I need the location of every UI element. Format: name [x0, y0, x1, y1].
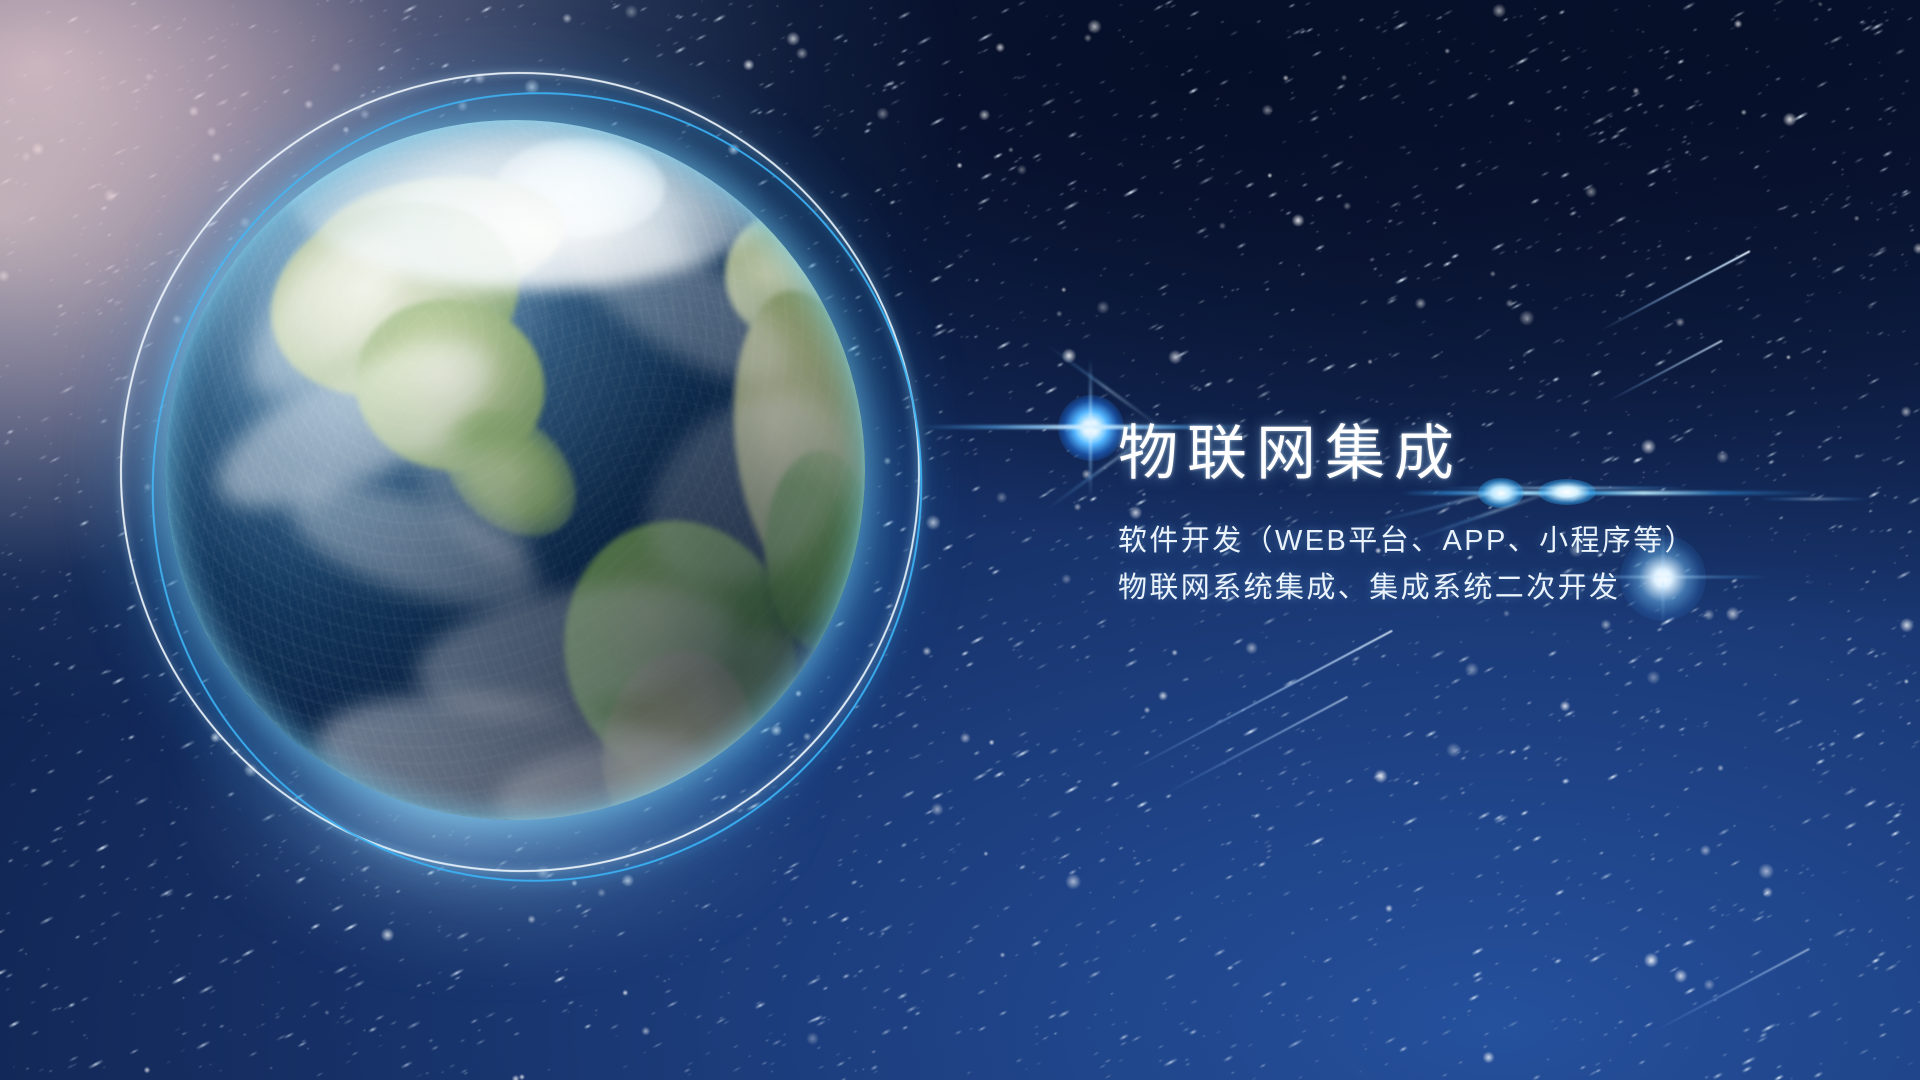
hero-subtitle-line-2: 物联网系统集成、集成系统二次开发 — [1118, 565, 1858, 612]
earth-limb-glow — [165, 120, 865, 820]
hero-text-block: 物联网集成 软件开发（WEB平台、APP、小程序等） 物联网系统集成、集成系统二… — [1118, 424, 1858, 612]
hero-subtitle: 软件开发（WEB平台、APP、小程序等） 物联网系统集成、集成系统二次开发 — [1118, 518, 1858, 612]
space-hero-banner: 物联网集成 软件开发（WEB平台、APP、小程序等） 物联网系统集成、集成系统二… — [0, 0, 1920, 1080]
earth-globe — [165, 120, 865, 820]
hero-title: 物联网集成 — [1118, 424, 1858, 484]
hero-subtitle-line-1: 软件开发（WEB平台、APP、小程序等） — [1118, 518, 1858, 565]
